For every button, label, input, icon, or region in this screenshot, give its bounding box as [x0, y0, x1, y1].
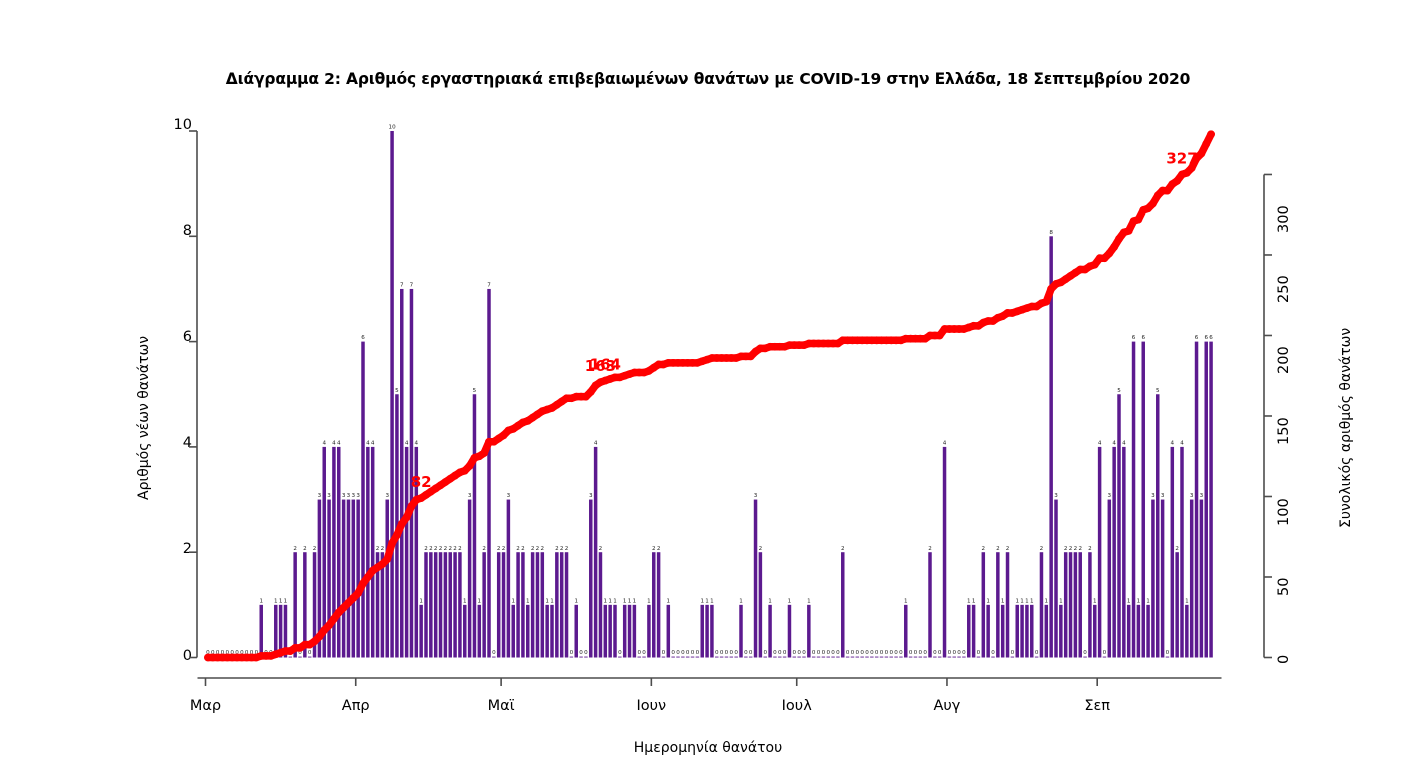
- bar-value-label: 5: [1117, 388, 1121, 394]
- cumulative-point: [330, 615, 338, 623]
- bar: [507, 500, 510, 658]
- bar-value-label: 2: [928, 546, 932, 552]
- bar: [570, 657, 573, 658]
- bar: [647, 605, 650, 658]
- bar-value-label: 2: [448, 546, 452, 552]
- bar: [967, 605, 970, 658]
- bar: [982, 552, 985, 657]
- cumulative-point: [359, 580, 367, 588]
- bar-value-label: 0: [1166, 650, 1170, 656]
- bar: [565, 552, 568, 657]
- cumulative-point: [1134, 216, 1142, 224]
- bar: [337, 447, 340, 658]
- bar-value-label: 4: [1098, 441, 1102, 447]
- bar: [865, 657, 868, 658]
- bar: [802, 657, 805, 658]
- bar-value-label: 1: [1093, 598, 1097, 604]
- bar: [361, 342, 364, 658]
- bar-value-label: 2: [536, 546, 540, 552]
- bar-value-label: 6: [1141, 335, 1145, 341]
- bar: [952, 657, 955, 658]
- bar-value-label: 1: [511, 598, 515, 604]
- bar: [681, 657, 684, 658]
- bar: [914, 657, 917, 658]
- bar: [579, 657, 582, 658]
- bar: [1137, 605, 1140, 658]
- bar-value-label: 2: [541, 546, 545, 552]
- bar-value-label: 2: [1064, 546, 1068, 552]
- bar-value-label: 6: [1209, 335, 1213, 341]
- bar-value-label: 3: [347, 493, 351, 499]
- bar: [502, 552, 505, 657]
- bar: [885, 657, 888, 658]
- bar-value-label: 0: [681, 650, 685, 656]
- bar: [773, 657, 776, 658]
- bar: [560, 552, 563, 657]
- bar: [1190, 500, 1193, 658]
- bar-value-label: 2: [521, 546, 525, 552]
- bar-value-label: 0: [570, 650, 574, 656]
- bar: [725, 657, 728, 658]
- bar: [826, 657, 829, 658]
- bar-value-label: 0: [991, 650, 995, 656]
- bar: [812, 657, 815, 658]
- bar-value-label: 1: [1001, 598, 1005, 604]
- bar-value-label: 4: [1180, 441, 1184, 447]
- cumulative-point: [315, 633, 323, 641]
- bar: [259, 605, 262, 658]
- bar: [996, 552, 999, 657]
- bar-value-label: 2: [439, 546, 443, 552]
- bar-value-label: 4: [943, 441, 947, 447]
- bar: [1015, 605, 1018, 658]
- cumulative-point: [1149, 200, 1157, 208]
- bar-value-label: 2: [381, 546, 385, 552]
- bar: [768, 605, 771, 658]
- bar-value-label: 1: [633, 598, 637, 604]
- bar-value-label: 0: [885, 650, 889, 656]
- bar: [841, 552, 844, 657]
- bar-value-label: 0: [1011, 650, 1015, 656]
- bar: [851, 657, 854, 658]
- bar-value-label: 7: [487, 283, 491, 289]
- bar: [880, 657, 883, 658]
- bar-value-label: 0: [851, 650, 855, 656]
- bar: [759, 552, 762, 657]
- bar: [1127, 605, 1130, 658]
- bar: [633, 605, 636, 658]
- bar-value-label: 0: [889, 650, 893, 656]
- bar-value-label: 0: [846, 650, 850, 656]
- bar: [875, 657, 878, 658]
- cumulative-point: [393, 531, 401, 539]
- bar-value-label: 0: [691, 650, 695, 656]
- bar: [599, 552, 602, 657]
- bar-value-label: 2: [1069, 546, 1073, 552]
- bar-value-label: 3: [754, 493, 758, 499]
- bar-value-label: 2: [458, 546, 462, 552]
- cumulative-point: [408, 502, 416, 510]
- bar: [589, 500, 592, 658]
- bar: [870, 657, 873, 658]
- bar-value-label: 4: [1122, 441, 1126, 447]
- bar: [473, 394, 476, 657]
- bar: [536, 552, 539, 657]
- bar: [1088, 552, 1091, 657]
- bar: [904, 605, 907, 658]
- bar: [274, 605, 277, 658]
- cumulative-point: [1042, 298, 1050, 306]
- bar-value-label: 6: [1204, 335, 1208, 341]
- cumulative-annotations-layer: 82163164327: [411, 149, 1198, 491]
- bar-value-label: 3: [356, 493, 360, 499]
- bar-value-label: 0: [773, 650, 777, 656]
- bar: [1132, 342, 1135, 658]
- bar-value-label: 2: [555, 546, 559, 552]
- bar-value-label: 4: [366, 441, 370, 447]
- bar: [938, 657, 941, 658]
- bar-value-label: 0: [763, 650, 767, 656]
- bar-value-label: 2: [376, 546, 380, 552]
- bar-value-label: 0: [584, 650, 588, 656]
- bar-value-label: 0: [923, 650, 927, 656]
- bar-value-label: 4: [594, 441, 598, 447]
- bar-value-label: 5: [473, 388, 477, 394]
- bar-value-label: 2: [996, 546, 1000, 552]
- bar: [822, 657, 825, 658]
- bar: [705, 605, 708, 658]
- bar: [550, 605, 553, 658]
- bar: [352, 500, 355, 658]
- cumulative-point: [354, 589, 362, 597]
- bar-value-label: 1: [967, 598, 971, 604]
- bar: [366, 447, 369, 658]
- bar: [1156, 394, 1159, 657]
- bar-value-label: 0: [870, 650, 874, 656]
- bar: [487, 289, 490, 658]
- bar: [419, 605, 422, 658]
- bar: [531, 552, 534, 657]
- cumulative-point: [383, 555, 391, 563]
- bar: [686, 657, 689, 658]
- bar: [1141, 342, 1144, 658]
- bar: [1108, 500, 1111, 658]
- cumulative-point: [1105, 249, 1113, 257]
- bar-value-label: 0: [952, 650, 956, 656]
- bar: [899, 657, 902, 658]
- cumulative-point: [1197, 150, 1205, 158]
- bar-value-label: 3: [589, 493, 593, 499]
- bar-value-label: 1: [628, 598, 632, 604]
- bar-value-label: 2: [657, 546, 661, 552]
- bar-value-label: 3: [1054, 493, 1058, 499]
- bar: [1195, 342, 1198, 658]
- bar-value-label: 2: [303, 546, 307, 552]
- bar-value-label: 3: [318, 493, 322, 499]
- bar-value-label: 2: [531, 546, 535, 552]
- bar: [763, 657, 766, 658]
- bar-value-label: 1: [768, 598, 772, 604]
- bar: [545, 605, 548, 658]
- cumulative-point: [325, 621, 333, 629]
- bar-value-label: 0: [1035, 650, 1039, 656]
- bar: [1030, 605, 1033, 658]
- bar: [356, 500, 359, 658]
- cumulative-point: [1125, 227, 1133, 235]
- bar-value-label: 4: [415, 441, 419, 447]
- bar-value-label: 1: [710, 598, 714, 604]
- bar-value-label: 4: [405, 441, 409, 447]
- bar-value-label: 0: [793, 650, 797, 656]
- bar-value-label: 0: [812, 650, 816, 656]
- cumulative-point: [403, 514, 411, 522]
- bar-value-label: 1: [574, 598, 578, 604]
- bar-value-label: 0: [880, 650, 884, 656]
- bar: [289, 657, 292, 658]
- bar: [604, 605, 607, 658]
- bar-value-label: 2: [759, 546, 763, 552]
- bar-value-label: 0: [957, 650, 961, 656]
- bar: [429, 552, 432, 657]
- bar-value-label: 2: [1006, 546, 1010, 552]
- bar: [1175, 552, 1178, 657]
- bar-value-label: 2: [444, 546, 448, 552]
- bar: [667, 605, 670, 658]
- bar: [754, 500, 757, 658]
- bar: [710, 605, 713, 658]
- plot-area: 0000000000010011102020234344333364422310…: [0, 0, 1416, 768]
- bar-value-label: 1: [550, 598, 554, 604]
- bar-value-label: 1: [1137, 598, 1141, 604]
- bar: [817, 657, 820, 658]
- bar-value-label: 7: [410, 283, 414, 289]
- bar-value-label: 4: [1171, 441, 1175, 447]
- bar-value-label: 1: [647, 598, 651, 604]
- bar: [497, 552, 500, 657]
- bar-value-label: 1: [274, 598, 278, 604]
- bar: [696, 657, 699, 658]
- bar-value-label: 1: [1025, 598, 1029, 604]
- bar-value-label: 1: [1030, 598, 1034, 604]
- bar-value-label: 1: [1020, 598, 1024, 604]
- bar-value-label: 0: [802, 650, 806, 656]
- bar: [371, 447, 374, 658]
- bar-value-label: 0: [730, 650, 734, 656]
- bar-value-label: 1: [613, 598, 617, 604]
- bar: [739, 605, 742, 658]
- bar-value-label: 0: [938, 650, 942, 656]
- bar-value-label: 2: [982, 546, 986, 552]
- bar-value-label: 2: [502, 546, 506, 552]
- bar: [846, 657, 849, 658]
- bar: [691, 657, 694, 658]
- bar-value-label: 0: [662, 650, 666, 656]
- bar: [623, 605, 626, 658]
- bar-value-label: 2: [1088, 546, 1092, 552]
- bar: [526, 605, 529, 658]
- bar-value-label: 1: [623, 598, 627, 604]
- bar-value-label: 5: [395, 388, 399, 394]
- bar: [482, 552, 485, 657]
- bar: [948, 657, 951, 658]
- bar-value-label: 2: [424, 546, 428, 552]
- bar-value-label: 1: [807, 598, 811, 604]
- bar-value-label: 0: [865, 650, 869, 656]
- bar: [574, 605, 577, 658]
- bar: [957, 657, 960, 658]
- bar: [308, 657, 311, 658]
- bar: [293, 552, 296, 657]
- bar-value-label: 6: [1195, 335, 1199, 341]
- bar: [424, 552, 427, 657]
- bar-value-label: 4: [371, 441, 375, 447]
- bar: [448, 552, 451, 657]
- bar: [521, 552, 524, 657]
- bar-value-label: 0: [642, 650, 646, 656]
- bar: [347, 500, 350, 658]
- bar: [298, 657, 301, 658]
- bar: [1204, 342, 1207, 658]
- bar-value-label: 10: [389, 125, 397, 131]
- bar: [1011, 657, 1014, 658]
- bar-value-label: 2: [1040, 546, 1044, 552]
- bar: [541, 552, 544, 657]
- cumulative-value-label: 327: [1166, 149, 1197, 167]
- bar-value-label: 0: [836, 650, 840, 656]
- bar: [1209, 342, 1212, 658]
- bar-value-label: 0: [637, 650, 641, 656]
- bar-value-label: 1: [284, 598, 288, 604]
- cumulative-point: [587, 388, 595, 396]
- bar-value-label: 2: [1074, 546, 1078, 552]
- bar: [807, 605, 810, 658]
- bar: [744, 657, 747, 658]
- bar-value-label: 0: [734, 650, 738, 656]
- bar: [613, 605, 616, 658]
- bar-value-label: 1: [463, 598, 467, 604]
- bar: [933, 657, 936, 658]
- bar-value-label: 3: [1190, 493, 1194, 499]
- cumulative-value-label: 82: [411, 473, 432, 491]
- bar-value-label: 1: [1045, 598, 1049, 604]
- cumulative-point: [1110, 243, 1118, 251]
- bar-value-label: 4: [332, 441, 336, 447]
- bar-value-label: 0: [715, 650, 719, 656]
- bar: [972, 605, 975, 658]
- bar: [860, 657, 863, 658]
- bar-value-label: 1: [700, 598, 704, 604]
- bar: [478, 605, 481, 658]
- bar: [1054, 500, 1057, 658]
- bar: [836, 657, 839, 658]
- bar-value-label: 0: [919, 650, 923, 656]
- bar: [889, 657, 892, 658]
- bar: [1035, 657, 1038, 658]
- bar: [1059, 605, 1062, 658]
- bar-value-label: 0: [783, 650, 787, 656]
- bar-value-label: 0: [875, 650, 879, 656]
- bar-value-label: 0: [977, 650, 981, 656]
- bar: [657, 552, 660, 657]
- bar-value-label: 1: [705, 598, 709, 604]
- bar: [1001, 605, 1004, 658]
- bar: [783, 657, 786, 658]
- bar: [962, 657, 965, 658]
- bar: [1083, 657, 1086, 658]
- bar-value-label: 2: [313, 546, 317, 552]
- bar-value-label: 2: [1175, 546, 1179, 552]
- bar: [797, 657, 800, 658]
- bar: [1161, 500, 1164, 658]
- bar: [1098, 447, 1101, 658]
- bar-value-label: 1: [545, 598, 549, 604]
- chart-canvas: Διάγραμμα 2: Αριθμός εργαστηριακά επιβεβ…: [0, 0, 1416, 768]
- bar-value-label: 6: [1132, 335, 1136, 341]
- bar: [700, 605, 703, 658]
- bar-value-label: 1: [739, 598, 743, 604]
- bar-value-label: 0: [817, 650, 821, 656]
- bar: [1093, 605, 1096, 658]
- cumulative-point: [398, 520, 406, 528]
- bar-value-label: 0: [676, 650, 680, 656]
- bar: [1200, 500, 1203, 658]
- cumulative-point: [1207, 130, 1215, 138]
- bars-layer: [206, 131, 1213, 658]
- bar-value-label: 0: [962, 650, 966, 656]
- bar-value-label: 0: [909, 650, 913, 656]
- bar: [327, 500, 330, 658]
- bar: [734, 657, 737, 658]
- bar-value-label: 0: [860, 650, 864, 656]
- bar-value-label: 1: [608, 598, 612, 604]
- bar: [831, 657, 834, 658]
- bar: [1078, 552, 1081, 657]
- bar: [977, 657, 980, 658]
- bar: [516, 552, 519, 657]
- bar-value-label: 4: [337, 441, 341, 447]
- bar: [793, 657, 796, 658]
- bar-value-label: 1: [1015, 598, 1019, 604]
- bar-value-label: 0: [831, 650, 835, 656]
- bar: [1146, 605, 1149, 658]
- bar: [468, 500, 471, 658]
- bar-value-label: 3: [1161, 493, 1165, 499]
- bar-value-label: 0: [822, 650, 826, 656]
- bar-value-label: 4: [1112, 441, 1116, 447]
- bar: [894, 657, 897, 658]
- bar-value-label: 0: [948, 650, 952, 656]
- bar: [943, 447, 946, 658]
- bar: [1025, 605, 1028, 658]
- bar: [909, 657, 912, 658]
- cumulative-point: [1091, 261, 1099, 269]
- bar: [1151, 500, 1154, 658]
- bar: [584, 657, 587, 658]
- bar: [511, 605, 514, 658]
- bar-value-label: 1: [478, 598, 482, 604]
- bar: [618, 657, 621, 658]
- bar-value-label: 0: [894, 650, 898, 656]
- bar-value-label: 2: [560, 546, 564, 552]
- bar: [671, 657, 674, 658]
- bar-value-label: 2: [429, 546, 433, 552]
- bar: [1069, 552, 1072, 657]
- bar-value-label: 3: [385, 493, 389, 499]
- bar: [856, 657, 859, 658]
- bar-value-label: 0: [914, 650, 918, 656]
- cumulative-value-label: 164: [590, 356, 621, 374]
- bar: [1180, 447, 1183, 658]
